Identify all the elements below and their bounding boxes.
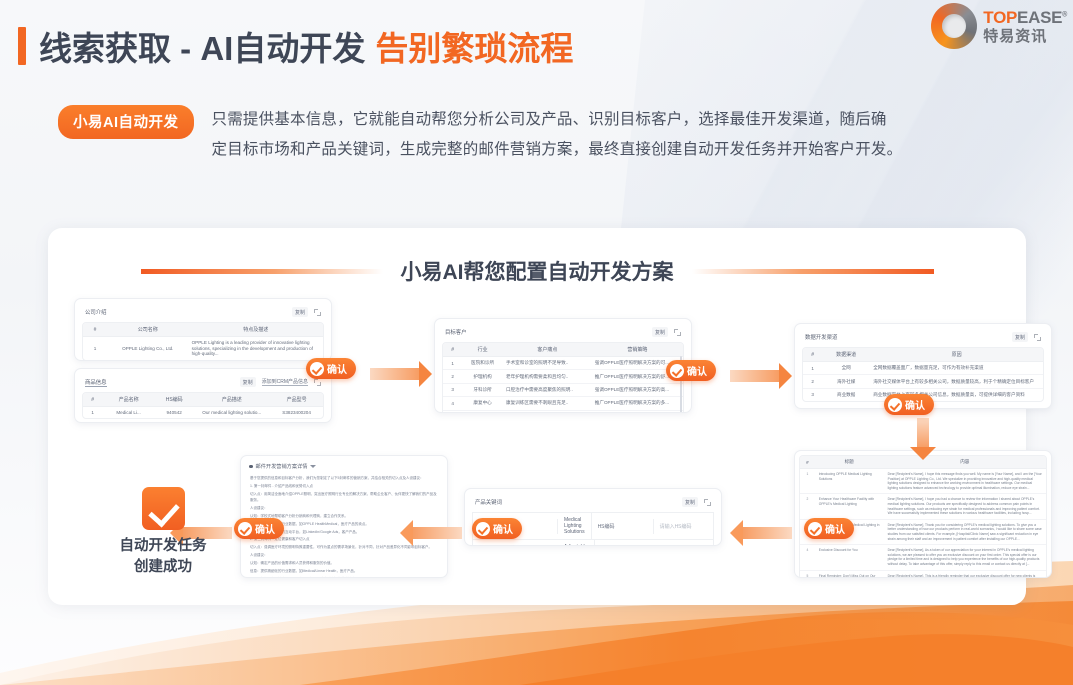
card-product-info[interactable]: 商品信息 复制 添加到CRM产品信息 # 产品名称 HS编码 产品描述 产品型号 xyxy=(74,368,332,423)
plan-paragraph: 基于您提供的信息和目标客户分析，我们为您制定了以下5封邮件的营销方案，并结合相关… xyxy=(250,476,438,482)
th-index: # xyxy=(83,393,102,407)
cell-product-desc: Our medical lighting solutio... xyxy=(193,407,270,419)
cell-pain-point: 口腔治疗中需要高度聚焦的照明.. xyxy=(503,383,592,396)
intro-badge: 小易AI自动开发 xyxy=(58,105,194,139)
copy-button-company[interactable]: 复制 xyxy=(292,307,308,317)
keyword-row[interactable]: * 产品关键词Adjustable Brightness LightingHS编… xyxy=(472,540,714,546)
title-main: 线索获取 - AI自动开发 xyxy=(39,22,365,70)
confirm-label: 确认 xyxy=(905,397,925,412)
card-marketing-plan[interactable]: 邮件开发营销方案详情 基于您提供的信息和目标客户分析，我们为您制定了以下5封邮件… xyxy=(240,455,448,578)
cell-index: 1 xyxy=(443,357,462,370)
copy-button-customers[interactable]: 复制 xyxy=(652,327,668,337)
confirm-label: 确认 xyxy=(825,521,845,536)
copy-button-channels[interactable]: 复制 xyxy=(1012,332,1028,342)
cell-channel: 商业数据 xyxy=(822,388,870,401)
card-keywords-title: 产品关键词 xyxy=(475,498,502,506)
logo-top-ease: EASE xyxy=(1017,8,1062,27)
add-to-crm-link[interactable]: 添加到CRM产品信息 xyxy=(262,378,308,386)
logo-mark-icon xyxy=(931,3,977,49)
th-index: # xyxy=(800,456,815,469)
confirm-label: 确认 xyxy=(255,521,275,536)
cell-reason: 海外社交媒体平台上有较多相关公司，数据质量较高，利于个精确定位目标客户 xyxy=(870,375,1043,388)
cell-product-model: S3823400204 xyxy=(270,407,323,419)
intro-section: 小易AI自动开发 只需提供基本信息，它就能自动帮您分析公司及产品、识别目标客户，… xyxy=(58,105,1028,165)
cell-industry: 医院和诊所 xyxy=(462,357,503,370)
logo-top-top: TOP xyxy=(983,8,1017,27)
intro-line-2: 定目标市场和产品关键词，生成完整的邮件营销方案，最终直接创建自动开发任务并开始客… xyxy=(212,135,903,165)
table-product: # 产品名称 HS编码 产品描述 产品型号 1 Medical Li... 94… xyxy=(83,393,323,418)
panel-header: 小易AI帮您配置自动开发方案 xyxy=(48,256,1026,286)
cell-company-name: OPPLE Lighting Co., Ltd. xyxy=(107,337,189,360)
hs-code-label: HS编码 xyxy=(595,546,657,547)
th-email-title: 标题 xyxy=(815,456,884,469)
cell-reason: 全网数据覆盖面广，数据量充足，可作为有效补充渠道 xyxy=(870,362,1043,375)
expand-icon-channels[interactable] xyxy=(1034,334,1041,341)
th-reason: 原因 xyxy=(870,348,1043,362)
intro-text: 只需提供基本信息，它就能自动帮您分析公司及产品、识别目标客户，选择最佳开发渠道，… xyxy=(212,105,903,165)
table-customers: # 行业 客户痛点 营销策略 1医院和诊所手术室和诊室的照明不足导致..强调OP… xyxy=(443,343,683,413)
cell-product-name: Medical Li... xyxy=(102,407,155,419)
cell-strategy: 推广OPPLE医疗照明解决方案的多... xyxy=(592,397,683,410)
cell-email-content: Dear [Recipient's Name], This is a frien… xyxy=(884,570,1046,578)
page-title: 线索获取 - AI自动开发 告别繁琐流程 xyxy=(18,22,573,70)
success-line-1: 自动开发任务 xyxy=(103,536,223,557)
check-circle-icon xyxy=(888,398,902,412)
logo-subtitle: 特易资讯 xyxy=(983,29,1067,44)
th-pain-point: 客户痛点 xyxy=(503,343,592,357)
title-accent: 告别繁琐流程 xyxy=(375,22,573,70)
plan-paragraph: 切入点：强调医疗环境的照明特殊重要性，可作为重点的需求场景化，针对不同，针对产品… xyxy=(250,545,438,551)
check-circle-icon xyxy=(808,522,822,536)
th-email-content: 内容 xyxy=(884,456,1046,469)
cell-email-content: Dear [Recipient's Name], I hope this mes… xyxy=(884,469,1046,494)
keyword-label: * 产品关键词 xyxy=(473,546,558,547)
expand-icon-keywords[interactable] xyxy=(704,499,711,506)
confirm-button-customers[interactable]: 确认 xyxy=(666,360,716,381)
table-row: 4康复中心康复训练区需要不刺眼且充足..推广OPPLE医疗照明解决方案的多... xyxy=(443,397,683,410)
table-row: 4Exclusive Discount for YouDear [Recipie… xyxy=(800,545,1046,570)
cell-index: 5 xyxy=(800,570,815,578)
cell-index: 5 xyxy=(443,410,462,413)
card-email-plan[interactable]: # 标题 内容 1Introducing OPPLE Medical Light… xyxy=(794,450,1052,578)
th-company-name: 公司名称 xyxy=(107,323,189,337)
expand-icon-customers[interactable] xyxy=(674,329,681,336)
table-row: 1全网全网数据覆盖面广，数据量充足，可作为有效补充渠道 xyxy=(803,362,1043,375)
cell-industry: 实验室 xyxy=(462,410,503,413)
check-circle-icon xyxy=(238,522,252,536)
table-emails: # 标题 内容 1Introducing OPPLE Medical Light… xyxy=(800,456,1046,578)
th-index: # xyxy=(83,323,107,337)
cell-pain-point: 手术室和诊室的照明不足导致.. xyxy=(503,357,592,370)
arrow-step-2-to-3 xyxy=(730,363,792,389)
table-row: 5实验室实验过程中需要高精度的照明..强调OPPLE医疗照明解决方案的高... xyxy=(443,410,683,413)
confirm-button-plan[interactable]: 确认 xyxy=(234,518,284,539)
intro-line-1: 只需提供基本信息，它就能自动帮您分析公司及产品、识别目标客户，选择最佳开发渠道，… xyxy=(212,105,903,135)
cell-index: 1 xyxy=(803,362,822,375)
table-row: 2海外社媒海外社交媒体平台上有较多相关公司，数据质量较高，利于个精确定位目标客户 xyxy=(803,375,1043,388)
keyword-value[interactable]: Adjustable Brightness Lighting xyxy=(558,540,595,546)
plan-title: 邮件开发营销方案详情 xyxy=(256,463,308,470)
confirm-button-keywords[interactable]: 确认 xyxy=(472,518,522,539)
cell-channel: 全网 xyxy=(822,362,870,375)
cell-index: 3 xyxy=(443,383,462,396)
cell-index: 1 xyxy=(800,469,815,494)
logo-text: TOPEASE® 特易资讯 xyxy=(983,9,1067,44)
table-header-row: # 行业 客户痛点 营销策略 xyxy=(443,343,683,357)
card-company-title: 公司介绍 xyxy=(85,308,107,316)
plan-paragraph: 认知：确定产品的价值需求和人员获得和服务的价值。 xyxy=(250,561,438,567)
cell-email-content: Dear [Recipient's Name], As a token of o… xyxy=(884,545,1046,570)
card-channels-title: 数据开发渠道 xyxy=(805,333,837,341)
card-customers-title: 目标客户 xyxy=(445,328,467,336)
cell-index: 2 xyxy=(803,375,822,388)
cell-index: 3 xyxy=(803,388,822,401)
cell-index: 2 xyxy=(443,370,462,383)
expand-icon-product[interactable] xyxy=(314,379,321,386)
table-row: 5Final Reminder: Don't Miss Out on Our E… xyxy=(800,570,1046,578)
hs-code-input[interactable]: 请输入HS编码 xyxy=(654,519,722,534)
table-row: 1医院和诊所手术室和诊室的照明不足导致..强调OPPLE医疗照明解决方案的可..… xyxy=(443,357,683,370)
plan-paragraph: 信息：提供精细化的行业数据，如Medical/Linear Health，医疗产… xyxy=(250,569,438,575)
confirm-button-channels[interactable]: 确认 xyxy=(884,394,934,415)
cell-email-title: Final Reminder: Don't Miss Out on Our Ex… xyxy=(815,570,884,578)
logo-registered-mark: ® xyxy=(1062,11,1067,18)
table-row: 1 OPPLE Lighting Co., Ltd. OPPLE Lightin… xyxy=(83,337,323,360)
confirm-button-emails[interactable]: 确认 xyxy=(804,518,854,539)
th-product-desc: 产品描述 xyxy=(193,393,270,407)
th-index: # xyxy=(443,343,462,357)
cell-index: 4 xyxy=(800,545,815,570)
cell-pain-point: 老年护理机构需要柔和且均匀.. xyxy=(503,370,592,383)
plan-paragraph: 人设建议： xyxy=(250,553,438,559)
th-industry: 行业 xyxy=(462,343,503,357)
cell-industry: 牙科诊所 xyxy=(462,383,503,396)
arrow-step-5-to-6 xyxy=(400,520,462,546)
copy-button-product[interactable]: 复制 xyxy=(240,377,256,387)
table-row: 3牙科诊所口腔治疗中需要高度聚焦的照明..强调OPPLE医疗照明解决方案的高..… xyxy=(443,383,683,396)
check-circle-icon xyxy=(476,522,490,536)
hs-code-label: HS编码 xyxy=(592,519,654,534)
chevron-down-icon[interactable] xyxy=(310,465,316,468)
brand-logo: TOPEASE® 特易资讯 xyxy=(931,3,1067,49)
keyword-value[interactable]: Medical Lighting Solutions xyxy=(558,513,592,539)
cell-industry: 护理机构 xyxy=(462,370,503,383)
th-strategy: 营销策略 xyxy=(592,343,683,357)
cell-index: 1 xyxy=(83,337,107,360)
panel-rule-right xyxy=(692,269,934,274)
cell-company-desc: OPPLE Lighting is a leading provider of … xyxy=(189,337,323,360)
card-company-info[interactable]: 公司介绍 复制 # 公司名称 特点及描述 1 OPPLE Light xyxy=(74,298,332,361)
th-product-model: 产品型号 xyxy=(270,393,323,407)
title-accent-bar xyxy=(18,27,26,65)
success-check-icon xyxy=(142,487,185,530)
panel-title: 小易AI帮您配置自动开发方案 xyxy=(401,256,674,286)
confirm-label: 确认 xyxy=(687,363,707,378)
th-product-name: 产品名称 xyxy=(102,393,155,407)
cell-strategy: 强调OPPLE医疗照明解决方案的高... xyxy=(592,383,683,396)
cell-industry: 康复中心 xyxy=(462,397,503,410)
table-row: 2Enhance Your Healthcare Facility with O… xyxy=(800,494,1046,519)
cell-index: 1 xyxy=(83,407,102,419)
cell-email-content: Dear [Recipient's Name], Thank you for c… xyxy=(884,519,1046,544)
th-company-desc: 特点及描述 xyxy=(189,323,323,337)
cell-email-title: Introducing OPPLE Medical Lighting Solut… xyxy=(815,469,884,494)
plan-paragraph: 号召：提供更高层的自动产品开发和服务，帮助大型市场的营销策略。 xyxy=(250,577,438,578)
table-header-row: # 公司名称 特点及描述 xyxy=(83,323,323,337)
confirm-label: 确认 xyxy=(327,361,347,376)
check-circle-icon xyxy=(670,364,684,378)
cell-index: 4 xyxy=(443,397,462,410)
cell-channel: 海外社媒 xyxy=(822,375,870,388)
table-row: 1Introducing OPPLE Medical Lighting Solu… xyxy=(800,469,1046,494)
success-block: 自动开发任务 创建成功 xyxy=(103,487,223,578)
card-target-customers[interactable]: 目标客户 复制 # 行业 客户痛点 营销策略 1医院和诊所手术室和诊室的照明不足… xyxy=(434,318,692,413)
cell-pain-point: 康复训练区需要不刺眼且充足.. xyxy=(503,397,592,410)
card-product-title: 商品信息 xyxy=(85,378,107,387)
panel-rule-left xyxy=(141,269,383,274)
table-row: 1 Medical Li... 940542 Our medical light… xyxy=(83,407,323,419)
success-line-2: 创建成功 xyxy=(103,557,223,578)
arrow-step-1-to-2 xyxy=(370,361,432,387)
cell-email-title: Exclusive Discount for You xyxy=(815,545,884,570)
bullet-icon xyxy=(249,465,253,469)
cell-hs-code: 940542 xyxy=(155,407,193,419)
cell-email-title: Enhance Your Healthcare Facility with OP… xyxy=(815,494,884,519)
table-row: 2护理机构老年护理机构需要柔和且均匀..推广OPPLE医疗照明解决方案的舒... xyxy=(443,370,683,383)
plan-paragraph: 1. 第一封邮件 - 介绍产品线和优势切入点 xyxy=(250,484,438,490)
cell-strategy: 强调OPPLE医疗照明解决方案的高... xyxy=(592,410,683,413)
table-company: # 公司名称 特点及描述 1 OPPLE Lighting Co., Ltd. … xyxy=(83,323,323,360)
th-index: # xyxy=(803,348,822,362)
cell-email-content: Dear [Recipient's Name], I hope you had … xyxy=(884,494,1046,519)
cell-index: 2 xyxy=(800,494,815,519)
hs-code-input[interactable]: 请输入HS编码 xyxy=(657,546,722,547)
th-channel: 数据渠道 xyxy=(822,348,870,362)
confirm-label: 确认 xyxy=(493,521,513,536)
arrow-step-4-to-5 xyxy=(730,520,792,546)
th-hs-code: HS编码 xyxy=(155,393,193,407)
copy-button-keywords[interactable]: 复制 xyxy=(682,497,698,507)
table-header-row: # 产品名称 HS编码 产品描述 产品型号 xyxy=(83,393,323,407)
table-header-row: # 数据渠道 原因 xyxy=(803,348,1043,362)
confirm-button-company[interactable]: 确认 xyxy=(306,358,356,379)
plan-paragraph: 人设建议： xyxy=(250,506,438,512)
plan-paragraph: 切入点：用简洁全面地介绍OPPLE照明，突出医疗照明行业专业的解决方案，帮助企业… xyxy=(250,492,438,503)
expand-icon-company[interactable] xyxy=(314,309,321,316)
cell-pain-point: 实验过程中需要高精度的照明.. xyxy=(503,410,592,413)
arrow-step-3-to-4 xyxy=(910,418,936,460)
check-circle-icon xyxy=(310,362,324,376)
